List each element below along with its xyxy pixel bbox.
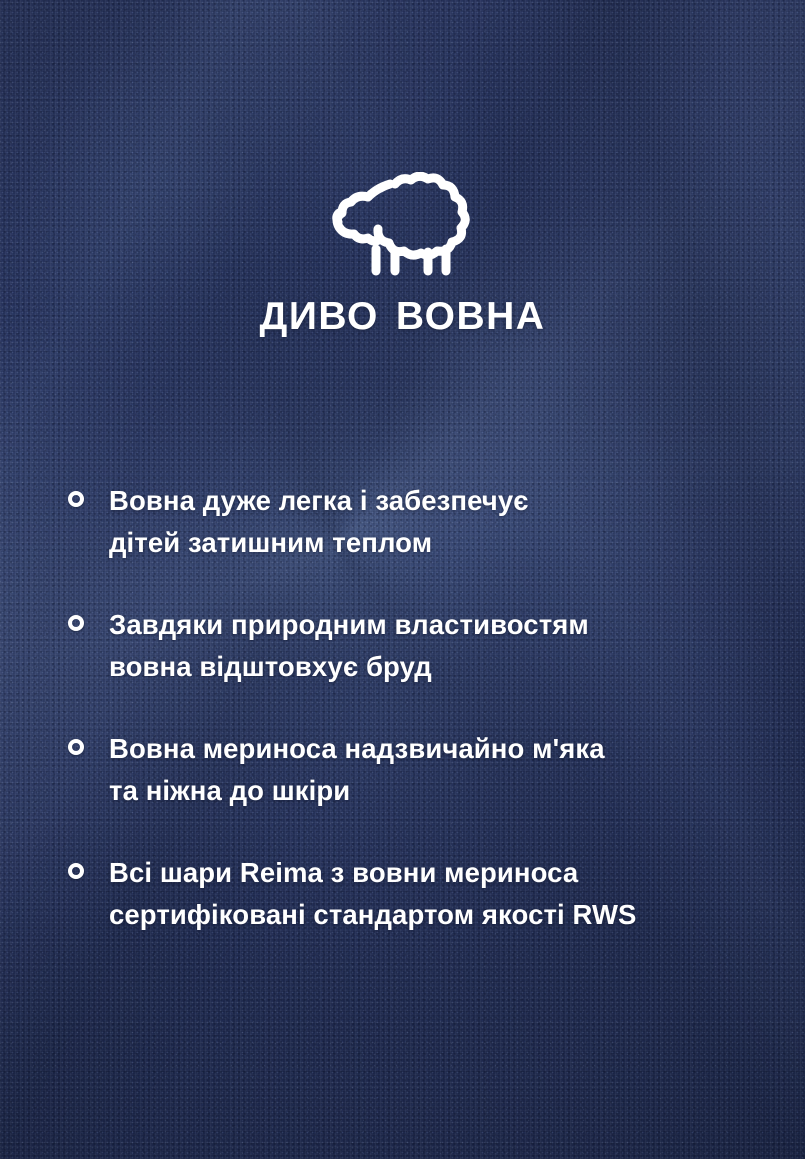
poster-content: Диво вовна Вовна дуже легка і забезпечує… [0,0,805,1159]
list-item-text: Завдяки природним властивостям вовна від… [109,604,589,688]
list-item: Вовна дуже легка і забезпечує дітей зати… [68,480,788,564]
list-item: Всі шари Reima з вовни мериноса сертифік… [68,852,788,936]
wool-infographic-poster: Диво вовна Вовна дуже легка і забезпечує… [0,0,805,1159]
list-item-line: Завдяки природним властивостям [109,604,589,646]
list-item-line: Вовна мериноса надзвичайно м'яка [109,728,605,770]
ring-bullet-icon [68,863,84,879]
list-item-line: вовна відштовхує бруд [109,646,589,688]
list-item-line: Вовна дуже легка і забезпечує [109,480,529,522]
sheep-icon [329,172,477,276]
list-item-text: Вовна дуже легка і забезпечує дітей зати… [109,480,529,564]
ring-bullet-icon [68,739,84,755]
list-item-line: Всі шари Reima з вовни мериноса [109,852,637,894]
benefits-list: Вовна дуже легка і забезпечує дітей зати… [68,480,788,936]
list-item-text: Всі шари Reima з вовни мериноса сертифік… [109,852,637,936]
ring-bullet-icon [68,615,84,631]
list-item-line: дітей затишним теплом [109,522,529,564]
list-item-text: Вовна мериноса надзвичайно м'яка та ніжн… [109,728,605,812]
list-item: Вовна мериноса надзвичайно м'яка та ніжн… [68,728,788,812]
page-title: Диво вовна [0,282,805,338]
list-item-line: та ніжна до шкіри [109,770,605,812]
sheep-icon-container [0,172,805,276]
list-item-line: сертифіковані стандартом якості RWS [109,894,637,936]
list-item: Завдяки природним властивостям вовна від… [68,604,788,688]
ring-bullet-icon [68,491,84,507]
